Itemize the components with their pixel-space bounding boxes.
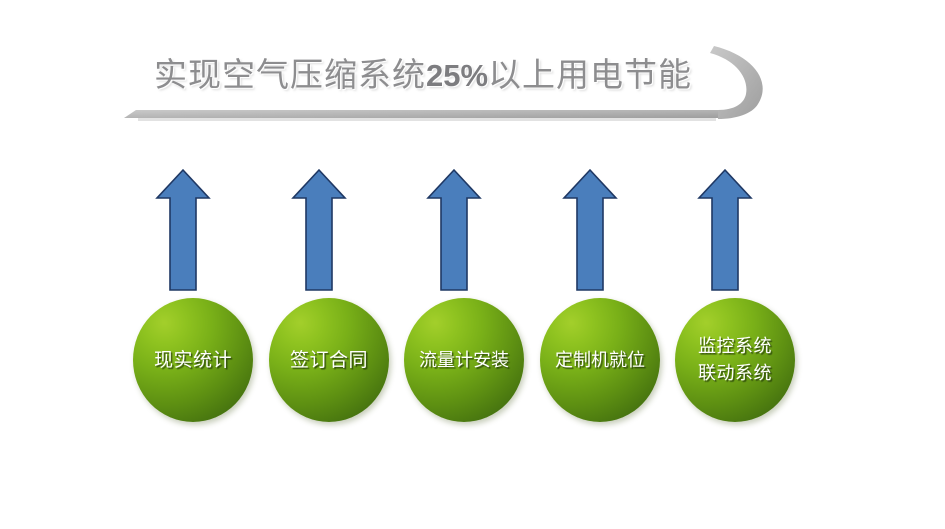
node-3-label: 流量计安装 — [419, 348, 509, 373]
arrow-4 — [562, 168, 618, 293]
node-2[interactable]: 签订合同 — [269, 298, 389, 422]
node-5-label: 监控系统 联动系统 — [698, 333, 772, 387]
up-arrow-icon — [155, 168, 211, 293]
node-1[interactable]: 现实统计 — [133, 298, 253, 422]
up-arrow-shape — [293, 170, 345, 290]
page-title: 实现空气压缩系统25%以上用电节能 — [154, 50, 754, 102]
title-percent: 25% — [426, 58, 488, 93]
up-arrow-shape — [428, 170, 480, 290]
up-arrow-icon — [291, 168, 347, 293]
banner-shadow — [138, 118, 716, 121]
up-arrow-shape — [564, 170, 616, 290]
node-row: 现实统计 签订合同 流量计安装 定制机就位 监控系统 联动系统 — [0, 298, 945, 426]
up-arrow-shape — [699, 170, 751, 290]
up-arrow-icon — [697, 168, 753, 293]
banner-bottom-edge — [124, 110, 718, 118]
node-2-label: 签订合同 — [290, 348, 368, 373]
slide-canvas: 实现空气压缩系统25%以上用电节能 — [0, 0, 945, 529]
up-arrow-icon — [426, 168, 482, 293]
arrow-row — [0, 168, 945, 293]
arrow-2 — [291, 168, 347, 293]
node-1-label: 现实统计 — [154, 348, 232, 373]
arrow-3 — [426, 168, 482, 293]
node-5-line-1: 监控系统 — [698, 336, 772, 356]
title-banner: 实现空气压缩系统25%以上用电节能 — [118, 36, 778, 122]
up-arrow-shape — [157, 170, 209, 290]
arrow-5 — [697, 168, 753, 293]
node-3[interactable]: 流量计安装 — [404, 298, 524, 422]
node-4-label: 定制机就位 — [555, 348, 645, 373]
arrow-1 — [155, 168, 211, 293]
node-5-line-2: 联动系统 — [698, 363, 772, 383]
node-5[interactable]: 监控系统 联动系统 — [675, 298, 795, 422]
title-suffix: 以上用电节能 — [488, 58, 692, 94]
node-4[interactable]: 定制机就位 — [540, 298, 660, 422]
title-prefix: 实现空气压缩系统 — [154, 58, 426, 94]
up-arrow-icon — [562, 168, 618, 293]
